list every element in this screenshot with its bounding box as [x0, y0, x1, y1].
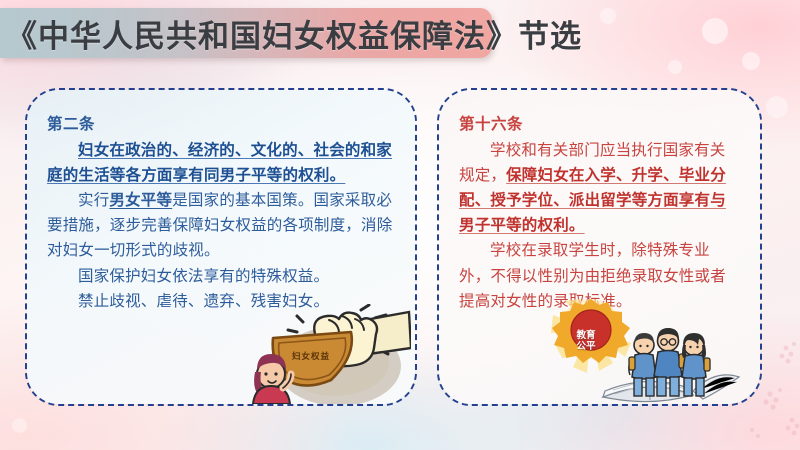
article-card-left: 第二条 妇女在政治的、经济的、文化的、社会的和家庭的生活等各方面享有同男子平等的…	[25, 88, 417, 406]
title-banner: 《中华人民共和国妇女权益保障法》节选	[0, 8, 492, 58]
paragraph-prefix: 实行	[78, 192, 109, 209]
article-paragraph: 妇女在政治的、经济的、文化的、社会的和家庭的生活等各方面享有同男子平等的权利。	[47, 138, 395, 188]
fist-punching-shield-illustration: 妇女权益	[243, 304, 411, 404]
education-equality-illustration	[543, 299, 758, 404]
article-heading-left: 第二条	[47, 112, 395, 134]
inline-highlight: 男女平等	[109, 192, 172, 209]
article-paragraph: 实行男女平等是国家的基本国策。国家采取必要措施，逐步完善保障妇女权益的各项制度，…	[47, 188, 395, 263]
highlighted-clause: 妇女在政治的、经济的、文化的、社会的和家庭的生活等各方面享有同男子平等的权利。	[47, 142, 392, 184]
shield-label: 妇女权益	[291, 351, 330, 361]
article-card-right: 第十六条 学校和有关部门应当执行国家有关规定，保障妇女在入学、升学、毕业分配、授…	[437, 88, 762, 406]
page-title: 《中华人民共和国妇女权益保障法》节选	[6, 11, 582, 56]
article-paragraph: 学校和有关部门应当执行国家有关规定，保障妇女在入学、升学、毕业分配、授予学位、派…	[459, 138, 740, 238]
article-heading-right: 第十六条	[459, 112, 740, 134]
article-paragraph: 国家保护妇女依法享有的特殊权益。	[47, 264, 395, 289]
